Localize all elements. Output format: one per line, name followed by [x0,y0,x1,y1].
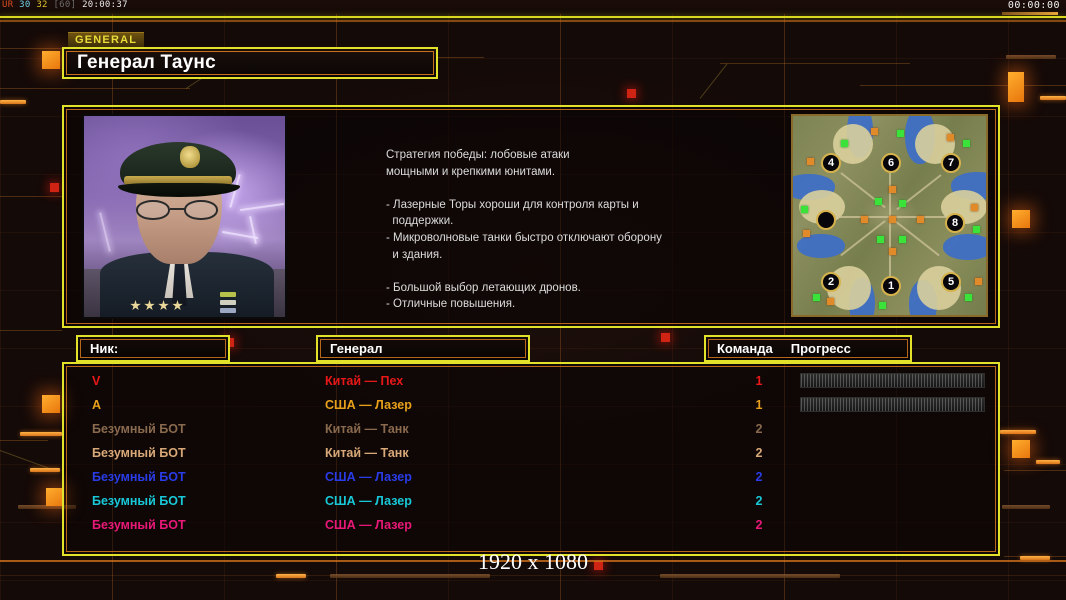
map-start-position-empty[interactable] [816,210,836,230]
bg-dash [1000,430,1036,434]
top-rule-yellow [0,16,1066,18]
player-progress-bar [800,373,985,388]
map-resource-oil [975,278,982,285]
map-resource-supply [963,140,970,147]
map-start-position-1[interactable]: 1 [881,276,901,296]
table-row[interactable]: Безумный БОТКитай — Танк2 [70,441,992,465]
player-general: Китай — Танк [325,422,409,436]
bg-trace [1004,470,1066,471]
progress-bar-fill [800,397,985,412]
player-nick: Безумный БОТ [92,494,186,508]
map-resource-oil [861,216,868,223]
player-team: 1 [748,398,770,412]
player-rows: VКитай — Пех1AСША — Лазер1Безумный БОТКи… [70,369,992,549]
rank-stars [130,300,183,311]
general-title-box: Генерал Таунс [62,47,438,79]
map-resource-supply [973,226,980,233]
fps-cap: [60] [53,0,76,10]
map-resource-oil [803,230,810,237]
map-start-position-6[interactable]: 6 [881,153,901,173]
bg-trace [860,85,1066,86]
map-resource-supply [899,200,906,207]
player-team: 2 [748,422,770,436]
bg-dash [1036,460,1060,464]
bg-dash [30,468,60,472]
lens-left [136,200,170,220]
bg-node [42,51,60,69]
bg-trace [0,575,1066,576]
map-resource-supply [897,130,904,137]
bg-dash [20,432,62,436]
player-progress-bar [800,397,985,412]
player-team: 2 [748,518,770,532]
player-nick: Безумный БОТ [92,422,186,436]
star-icon [158,300,169,311]
star-icon [144,300,155,311]
column-header-general-label: Генерал [330,341,382,356]
table-row[interactable]: Безумный БОТСША — Лазер2 [70,465,992,489]
hud-timestamp: 20:00:37 [82,0,128,10]
fps-label: UR [2,0,13,10]
column-header-team-label: Команда [717,341,773,356]
progress-bar-fill [800,373,985,388]
map-resource-oil [827,298,834,305]
map-resource-supply [801,206,808,213]
player-general: Китай — Пех [325,374,403,388]
game-lobby-screen: UR 30 32 [60] 20:00:37 00:00:00 GENERAL … [0,0,1066,600]
bg-node [627,89,636,98]
resolution-label: 1920 x 1080 [0,549,1066,575]
bg-dash [1040,96,1066,100]
map-resource-supply [875,198,882,205]
table-row[interactable]: Безумный БОТСША — Лазер2 [70,513,992,537]
map-start-position-5[interactable]: 5 [941,272,961,292]
map-resource-oil [917,216,924,223]
map-resource-oil [889,186,896,193]
map-resource-supply [879,302,886,309]
ribbon-icon [220,292,236,297]
table-row[interactable]: VКитай — Пех1 [70,369,992,393]
map-resource-supply [841,140,848,147]
map-water [797,234,845,258]
table-row[interactable]: Безумный БОТСША — Лазер2 [70,489,992,513]
player-nick: V [92,374,100,388]
bg-trace [0,196,62,197]
player-team: 2 [748,470,770,484]
clock-underline [1002,12,1058,15]
bg-trace-diagonal [0,450,49,469]
fps-value-1: 30 [19,0,30,10]
lens-right [184,200,218,220]
top-rule-orange [0,20,1066,22]
bg-dash [1002,505,1050,509]
star-icon [172,300,183,311]
bg-trace [0,440,48,441]
cap-eagle-badge-icon [180,146,200,168]
bg-trace-diagonal [700,64,728,99]
table-row[interactable]: AСША — Лазер1 [70,393,992,417]
map-resource-supply [877,236,884,243]
map-preview: 4678215 [791,114,988,317]
player-general: США — Лазер [325,470,412,484]
column-header-progress-label: Прогресс [791,341,851,356]
ribbon-icon [220,300,236,305]
general-info-panel: Стратегия победы: лобовые атаки мощными … [62,105,1000,328]
player-general: США — Лазер [325,398,412,412]
bg-trace [720,63,910,64]
bg-node [661,333,670,342]
player-general: США — Лазер [325,494,412,508]
map-start-position-7[interactable]: 7 [941,153,961,173]
map-resource-oil [807,158,814,165]
general-tab-label: GENERAL [68,32,144,48]
player-team: 1 [748,374,770,388]
top-hud-strip [0,0,1066,14]
map-resource-supply [965,294,972,301]
bg-trace [0,330,62,331]
player-general: США — Лазер [325,518,412,532]
ribbon-icon [220,308,236,313]
column-header-general: Генерал [316,335,530,362]
bg-node [1012,440,1030,458]
player-nick: Безумный БОТ [92,518,186,532]
map-start-position-2[interactable]: 2 [821,272,841,292]
player-nick: A [92,398,101,412]
lens-bridge [170,208,186,210]
fps-value-2: 32 [36,0,47,10]
player-list-panel: VКитай — Пех1AСША — Лазер1Безумный БОТКи… [62,362,1000,556]
map-resource-oil [947,134,954,141]
bg-dash [1006,55,1056,59]
bg-trace [0,88,190,89]
match-clock: 00:00:00 [1008,0,1060,11]
bg-dash [0,100,26,104]
star-icon [130,300,141,311]
bg-node [1012,210,1030,228]
strategy-description: Стратегия победы: лобовые атаки мощными … [386,147,716,313]
map-resource-oil [871,128,878,135]
map-resource-oil [889,248,896,255]
bg-node [50,183,59,192]
player-team: 2 [748,446,770,460]
column-header-nick-label: Ник: [90,341,118,356]
player-general: Китай — Танк [325,446,409,460]
player-nick: Безумный БОТ [92,470,186,484]
map-resource-oil [889,216,896,223]
page-title: Генерал Таунс [77,52,216,74]
map-water [943,234,988,260]
table-row[interactable]: Безумный БОТКитай — Танк2 [70,417,992,441]
column-header-nick: Ник: [76,335,230,362]
fps-counter: UR 30 32 [60] 20:00:37 [2,0,128,10]
glasses-icon [134,200,226,220]
general-portrait [82,114,287,319]
bg-node [1008,72,1024,102]
map-resource-supply [813,294,820,301]
map-resource-supply [899,236,906,243]
player-nick: Безумный БОТ [92,446,186,460]
map-resource-oil [971,204,978,211]
column-header-team-progress: Команда Прогресс [704,335,912,362]
bg-node [42,395,60,413]
player-team: 2 [748,494,770,508]
map-start-position-8[interactable]: 8 [945,213,965,233]
map-start-position-4[interactable]: 4 [821,153,841,173]
